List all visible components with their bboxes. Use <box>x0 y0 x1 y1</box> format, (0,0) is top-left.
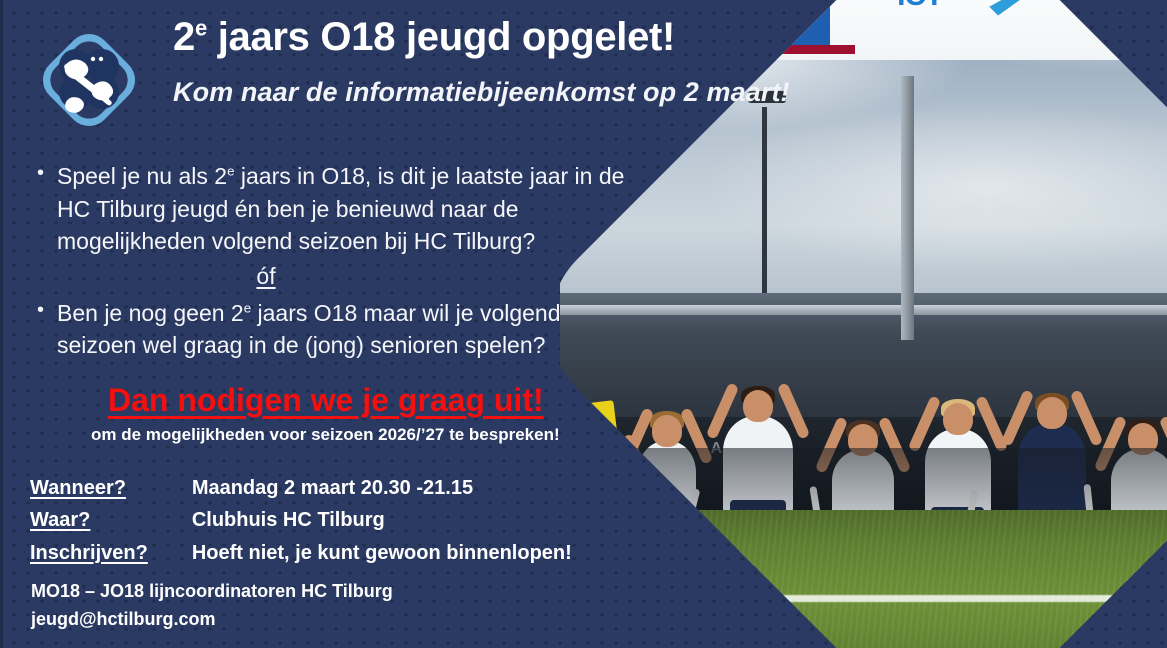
title-superscript: e <box>195 16 207 41</box>
title-rest: jaars O18 jeugd opgelet! <box>207 15 675 59</box>
bullet-list: Speel je nu als 2e jaars in O18, is dit … <box>31 160 641 362</box>
content-column: 2e jaars O18 jeugd opgelet! Kom naar de … <box>3 0 653 648</box>
or-word: óf <box>256 263 275 289</box>
event-details-table: Wanneer? Maandag 2 maart 20.30 -21.15 Wa… <box>30 472 572 569</box>
banner-red-strip <box>746 45 855 54</box>
detail-label-waar: Waar? <box>30 504 192 536</box>
poster-canvas: ICT LANDS DE N <box>0 0 1167 648</box>
cta-headline: Dan nodigen we je graag uit! <box>108 383 544 418</box>
banner-swoosh-icon <box>989 0 1023 16</box>
page-title: 2e jaars O18 jeugd opgelet! <box>173 16 675 58</box>
bullet1-superscript: e <box>227 163 234 178</box>
or-separator: óf <box>31 260 501 293</box>
banner-blue-block <box>746 0 830 48</box>
footer-email: jeugd@hctilburg.com <box>31 606 393 634</box>
detail-value-waar: Clubhuis HC Tilburg <box>192 504 572 536</box>
bullet1-text-a: Speel je nu als 2 <box>57 163 227 189</box>
banner-text: ICT <box>897 0 942 11</box>
list-item: Ben je nog geen 2e jaars O18 maar wil je… <box>31 297 641 362</box>
logo-mark-icon <box>35 26 143 134</box>
cta-subline: om de mogelijkheden voor seizoen 2026/’2… <box>91 425 560 445</box>
ict-banner: ICT <box>746 0 1165 60</box>
detail-value-inschrijven: Hoeft niet, je kunt gewoon binnenlopen! <box>192 537 572 569</box>
list-item: Speel je nu als 2e jaars in O18, is dit … <box>31 160 641 258</box>
footer-block: MO18 – JO18 lijncoordinatoren HC Tilburg… <box>31 578 393 634</box>
detail-value-wanneer: Maandag 2 maart 20.30 -21.15 <box>192 472 572 504</box>
table-row: Waar? Clubhuis HC Tilburg <box>30 504 572 536</box>
table-row: Wanneer? Maandag 2 maart 20.30 -21.15 <box>30 472 572 504</box>
detail-label-wanneer: Wanneer? <box>30 472 192 504</box>
hc-tilburg-logo <box>35 26 143 134</box>
table-row: Inschrijven? Hoeft niet, je kunt gewoon … <box>30 537 572 569</box>
bullet2-text-a: Ben je nog geen 2 <box>57 300 244 326</box>
title-prefix: 2 <box>173 15 195 59</box>
footer-coordinators: MO18 – JO18 lijncoordinatoren HC Tilburg <box>31 578 393 606</box>
page-subtitle: Kom naar de informatiebijeenkomst op 2 m… <box>173 78 790 108</box>
detail-label-inschrijven: Inschrijven? <box>30 537 192 569</box>
